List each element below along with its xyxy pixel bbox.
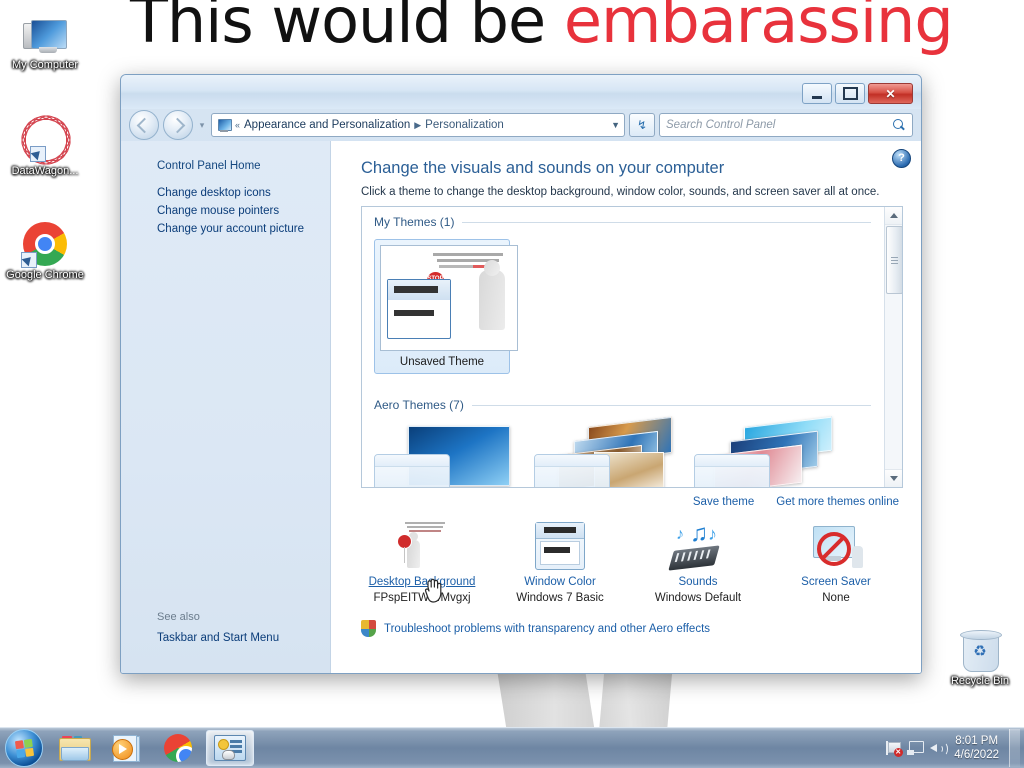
- wallpaper-text-red: embarassing: [564, 0, 953, 57]
- maximize-icon: [843, 87, 858, 100]
- taskbar[interactable]: ✕ 8:01 PM 4/6/2022: [0, 727, 1024, 768]
- content-pane: ? Change the visuals and sounds on your …: [331, 141, 921, 673]
- refresh-button[interactable]: ↯: [629, 113, 655, 137]
- breadcrumb-appearance[interactable]: Appearance and Personalization: [244, 119, 410, 131]
- wallpaper-text: This would be embarassing: [130, 0, 920, 53]
- group-heading-label: My Themes (1): [374, 215, 454, 229]
- theme-thumbnail: STOP: [380, 245, 518, 351]
- theme-thumbnail-wallpaper: STOP: [381, 246, 517, 350]
- desktop-icon-recycle-bin[interactable]: ♻ Recycle Bin: [935, 622, 1024, 687]
- desktop-icon-datawagon[interactable]: DataWagon...: [0, 112, 90, 177]
- window-titlebar[interactable]: ✕: [121, 75, 921, 109]
- setting-screen-saver[interactable]: Screen Saver None: [767, 518, 905, 604]
- breadcrumb-personalization[interactable]: Personalization: [425, 119, 504, 131]
- desktop-icon-label: My Computer: [0, 59, 90, 71]
- group-heading-label: Aero Themes (7): [374, 398, 464, 412]
- theme-item-windows-7[interactable]: [374, 422, 510, 488]
- sidebar-item-taskbar-and-start-menu[interactable]: Taskbar and Start Menu: [121, 629, 330, 647]
- datawagon-shortcut-icon: [0, 112, 90, 162]
- thumbnail-window-preview: [534, 454, 610, 488]
- search-icon: [893, 119, 906, 132]
- clock-date: 4/6/2022: [954, 748, 999, 762]
- group-heading-aero-themes: Aero Themes (7): [362, 390, 885, 412]
- clock-time: 8:01 PM: [954, 734, 999, 748]
- desktop-background-icon: [353, 518, 491, 570]
- media-player-icon: [112, 735, 140, 761]
- control-panel-window[interactable]: ✕ ▾ « Appearance and Personalization ▶ P…: [120, 74, 922, 674]
- desktop-icon-google-chrome[interactable]: Google Chrome: [0, 216, 90, 281]
- desktop[interactable]: This would be embarassing My Computer Da…: [0, 0, 1024, 768]
- recent-pages-dropdown[interactable]: ▾: [197, 120, 207, 131]
- sidebar-item-control-panel-home[interactable]: Control Panel Home: [121, 157, 330, 184]
- desktop-icon-my-computer[interactable]: My Computer: [0, 6, 90, 71]
- setting-desktop-background[interactable]: Desktop Background FPspEITW…Mvgxj: [353, 518, 491, 604]
- navigation-bar[interactable]: ▾ « Appearance and Personalization ▶ Per…: [121, 109, 921, 141]
- chrome-icon: [164, 734, 192, 762]
- troubleshoot-link-label[interactable]: Troubleshoot problems with transparency …: [384, 623, 710, 635]
- thumbnail-window-preview: [694, 454, 770, 488]
- shortcut-arrow-icon: [21, 252, 37, 268]
- theme-row-my-themes: STOP Unsaved Theme: [362, 229, 885, 374]
- scroll-down-button[interactable]: [885, 469, 902, 487]
- setting-value: Windows 7 Basic: [491, 592, 629, 604]
- sidebar-item-change-desktop-icons[interactable]: Change desktop icons: [121, 184, 330, 202]
- scroll-up-button[interactable]: [885, 207, 902, 225]
- sidebar-item-change-account-picture[interactable]: Change your account picture: [121, 220, 330, 238]
- control-panel-icon: [214, 735, 246, 761]
- window-controls[interactable]: ✕: [802, 83, 913, 104]
- theme-label: Unsaved Theme: [380, 351, 504, 371]
- network-icon[interactable]: [904, 736, 926, 760]
- theme-thumbnail: [534, 422, 670, 488]
- desktop-icon-label: Recycle Bin: [935, 675, 1024, 687]
- thumbnail-window-preview: [374, 454, 450, 488]
- setting-value: FPspEITW…Mvgxj: [353, 592, 491, 604]
- folder-icon: [59, 736, 89, 760]
- google-chrome-shortcut-icon: [0, 216, 90, 266]
- volume-icon[interactable]: [926, 736, 948, 760]
- start-button[interactable]: [2, 729, 46, 767]
- my-computer-icon: [0, 6, 90, 56]
- search-input[interactable]: Search Control Panel: [659, 113, 913, 137]
- theme-action-links: Save theme Get more themes online: [331, 488, 921, 508]
- themes-scrollbar[interactable]: [884, 207, 902, 487]
- system-tray[interactable]: ✕ 8:01 PM 4/6/2022: [882, 728, 1024, 768]
- taskbar-item-google-chrome[interactable]: [154, 730, 202, 766]
- wallpaper-text-black: This would be: [130, 0, 545, 57]
- theme-thumbnail: [694, 422, 830, 488]
- see-also-heading: See also: [121, 611, 330, 629]
- theme-item-characters[interactable]: [694, 422, 830, 488]
- setting-sounds[interactable]: ♪♫♪ Sounds Windows Default: [629, 518, 767, 604]
- see-also-section: See also Taskbar and Start Menu: [121, 611, 330, 647]
- minimize-button[interactable]: [802, 83, 832, 104]
- theme-item-architecture[interactable]: [534, 422, 670, 488]
- taskbar-item-windows-media-player[interactable]: [102, 730, 150, 766]
- screen-saver-icon: [767, 518, 905, 570]
- breadcrumb-separator-icon: ▶: [414, 120, 421, 131]
- recycle-bin-icon: ♻: [935, 622, 1024, 672]
- windows-logo-icon: [5, 729, 43, 767]
- minimize-icon: [812, 96, 822, 99]
- theme-thumbnail: [374, 422, 510, 488]
- thumbnail-window-preview: [387, 279, 451, 339]
- wallpaper-figure-icon: [479, 270, 505, 330]
- themes-scroll-area: My Themes (1) STOP: [362, 207, 885, 487]
- setting-value: None: [767, 592, 905, 604]
- group-heading-my-themes: My Themes (1): [362, 207, 885, 229]
- setting-name[interactable]: Desktop Background: [353, 576, 491, 588]
- close-icon: ✕: [885, 88, 895, 100]
- page-title: Change the visuals and sounds on your co…: [331, 141, 921, 178]
- window-body: Control Panel Home Change desktop icons …: [121, 141, 921, 673]
- breadcrumb-overflow-icon[interactable]: «: [235, 120, 240, 130]
- control-panel-icon: [216, 119, 231, 132]
- personalization-settings-row: Desktop Background FPspEITW…Mvgxj Window…: [331, 508, 921, 604]
- themes-list-panel[interactable]: My Themes (1) STOP: [361, 206, 903, 488]
- forward-button[interactable]: [163, 110, 193, 140]
- show-desktop-button[interactable]: [1009, 729, 1020, 767]
- scrollbar-thumb[interactable]: [886, 226, 903, 294]
- page-subtitle: Click a theme to change the desktop back…: [331, 178, 921, 206]
- shortcut-arrow-icon: [30, 146, 46, 162]
- refresh-icon: ↯: [637, 118, 647, 132]
- divider: [462, 222, 871, 223]
- address-bar[interactable]: « Appearance and Personalization ▶ Perso…: [211, 113, 625, 137]
- setting-name[interactable]: Window Color: [491, 576, 629, 588]
- desktop-icon-label: DataWagon...: [0, 165, 90, 177]
- help-button[interactable]: ?: [892, 149, 911, 168]
- window-color-icon: [491, 518, 629, 570]
- shield-icon: [361, 620, 376, 637]
- maximize-button[interactable]: [835, 83, 865, 104]
- save-theme-link[interactable]: Save theme: [693, 496, 754, 508]
- action-center-flag-icon[interactable]: ✕: [882, 736, 904, 760]
- troubleshoot-link-row[interactable]: Troubleshoot problems with transparency …: [331, 604, 921, 637]
- sidebar-item-change-mouse-pointers[interactable]: Change mouse pointers: [121, 202, 330, 220]
- sounds-icon: ♪♫♪: [629, 518, 767, 570]
- back-button[interactable]: [129, 110, 159, 140]
- chevron-down-icon[interactable]: ▼: [605, 120, 620, 130]
- theme-item-unsaved-theme[interactable]: STOP Unsaved Theme: [374, 239, 510, 374]
- search-placeholder: Search Control Panel: [666, 119, 893, 131]
- taskbar-item-control-panel[interactable]: [206, 730, 254, 766]
- theme-row-aero-themes: [362, 412, 885, 488]
- desktop-icon-label: Google Chrome: [0, 269, 90, 281]
- setting-window-color[interactable]: Window Color Windows 7 Basic: [491, 518, 629, 604]
- divider: [472, 405, 871, 406]
- close-button[interactable]: ✕: [868, 83, 913, 104]
- setting-name[interactable]: Screen Saver: [767, 576, 905, 588]
- setting-value: Windows Default: [629, 592, 767, 604]
- clock[interactable]: 8:01 PM 4/6/2022: [948, 734, 1007, 762]
- sidebar: Control Panel Home Change desktop icons …: [121, 141, 331, 673]
- setting-name[interactable]: Sounds: [629, 576, 767, 588]
- get-more-themes-link[interactable]: Get more themes online: [776, 496, 899, 508]
- taskbar-item-windows-explorer[interactable]: [50, 730, 98, 766]
